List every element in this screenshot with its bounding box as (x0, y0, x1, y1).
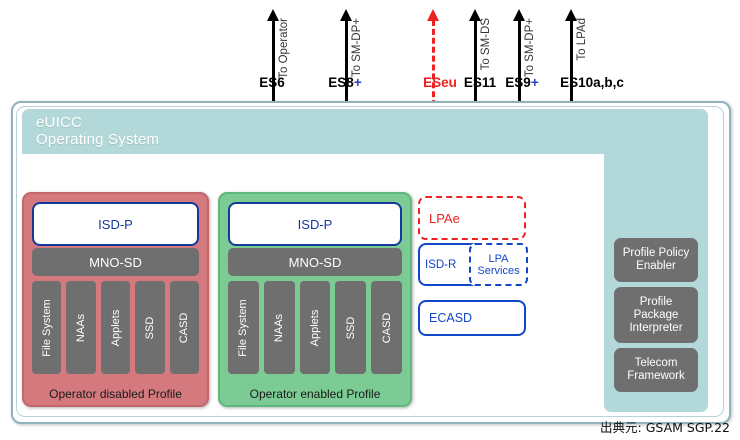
lpa-services-line2: Services (477, 265, 519, 277)
isd-r-box[interactable]: ISD-R LPA Services (418, 243, 526, 286)
subcomponent-label: CASD (381, 312, 393, 343)
interface-code-label: ESeu (423, 75, 457, 90)
service-line1: Telecom (627, 357, 685, 370)
profile-subcomponent[interactable]: SSD (135, 281, 164, 374)
arrow-head-up (427, 9, 439, 21)
interface-destination-label: To SM-DP+ (524, 18, 536, 77)
arrow-head-up (340, 9, 352, 21)
subcomponent-label: SSD (345, 316, 357, 339)
service-box-profile-package-interpreter[interactable]: Profile Package Interpreter (614, 287, 698, 343)
interface-code-text: ES10a,b,c (560, 75, 624, 90)
subcomponent-label: NAAs (75, 313, 87, 341)
interface-code-label: ES11 (464, 75, 496, 90)
interface-code-text: ESeu (423, 75, 457, 90)
subcomponent-label: Applets (309, 309, 321, 346)
mno-sd-box[interactable]: MNO-SD (228, 248, 402, 276)
service-line1: Profile Policy (623, 247, 689, 260)
lpa-services-box[interactable]: LPA Services (469, 243, 528, 286)
profile-subcomponents: File System NAAs Applets SSD CASD (32, 281, 199, 374)
subcomponent-label: CASD (178, 312, 190, 343)
service-line2: Framework (627, 370, 685, 383)
arrow-head-up (469, 9, 481, 21)
profile-subcomponent[interactable]: File System (32, 281, 61, 374)
interface-destination-label: To LPAd (576, 18, 588, 61)
service-line3: Interpreter (629, 322, 682, 335)
service-box-profile-policy-enabler[interactable]: Profile Policy Enabler (614, 238, 698, 282)
service-box-telecom-framework[interactable]: Telecom Framework (614, 348, 698, 392)
subcomponent-label: SSD (144, 316, 156, 339)
interface-destination-label: To Operator (278, 18, 290, 79)
subcomponent-label: File System (237, 299, 249, 356)
profile-subcomponent[interactable]: Applets (101, 281, 130, 374)
profile-caption: Operator disabled Profile (24, 387, 207, 401)
interface-destination-label: To SM-DP+ (351, 18, 363, 77)
isd-r-label: ISD-R (425, 259, 456, 271)
interface-code-text: ES11 (464, 75, 496, 90)
subcomponent-label: Applets (110, 309, 122, 346)
interface-code-suffix: + (354, 75, 362, 90)
service-line2: Package (629, 309, 682, 322)
interface-code-label: ES10a,b,c (560, 75, 624, 90)
profile-subcomponent[interactable]: CASD (371, 281, 402, 374)
subcomponent-label: NAAs (273, 313, 285, 341)
lpae-box[interactable]: LPAe (418, 196, 526, 240)
profile-subcomponents: File System NAAs Applets SSD CASD (228, 281, 402, 374)
interface-code-text: ES8 (328, 75, 354, 90)
mno-sd-box[interactable]: MNO-SD (32, 248, 199, 276)
interface-code-label: ES9+ (505, 75, 538, 90)
subcomponent-label: File System (41, 299, 53, 356)
profile-subcomponent[interactable]: SSD (335, 281, 366, 374)
euicc-os-title-line2: Operating System (36, 131, 336, 148)
profile-caption: Operator enabled Profile (220, 387, 410, 401)
profile-subcomponent[interactable]: NAAs (66, 281, 95, 374)
profile-subcomponent[interactable]: File System (228, 281, 259, 374)
profile-box-enabled[interactable]: ISD-P MNO-SD File System NAAs Applets SS… (218, 192, 412, 407)
service-line1: Profile (629, 296, 682, 309)
profile-subcomponent[interactable]: Applets (300, 281, 331, 374)
arrow-head-up (267, 9, 279, 21)
arrow-head-up (513, 9, 525, 21)
interface-code-label: ES8+ (328, 75, 361, 90)
diagram-canvas: ES6To OperatorES8+To SM-DP+ESeuES11To SM… (0, 0, 740, 440)
profile-subcomponent[interactable]: CASD (170, 281, 199, 374)
interface-destination-label: To SM-DS (480, 18, 492, 70)
service-line2: Enabler (623, 260, 689, 273)
isd-p-box[interactable]: ISD-P (228, 202, 402, 246)
isd-p-box[interactable]: ISD-P (32, 202, 199, 246)
euicc-os-title: eUICC Operating System (36, 114, 336, 148)
ecasd-box[interactable]: ECASD (418, 300, 526, 336)
profile-box-disabled[interactable]: ISD-P MNO-SD File System NAAs Applets SS… (22, 192, 209, 407)
euicc-os-title-line1: eUICC (36, 114, 336, 131)
lpa-services-line1: LPA (477, 253, 519, 265)
profile-subcomponent[interactable]: NAAs (264, 281, 295, 374)
arrow-head-up (565, 9, 577, 21)
source-caption: 出典元: GSAM SGP.22 (600, 417, 730, 436)
interface-code-suffix: + (531, 75, 539, 90)
interface-code-text: ES9 (505, 75, 531, 90)
